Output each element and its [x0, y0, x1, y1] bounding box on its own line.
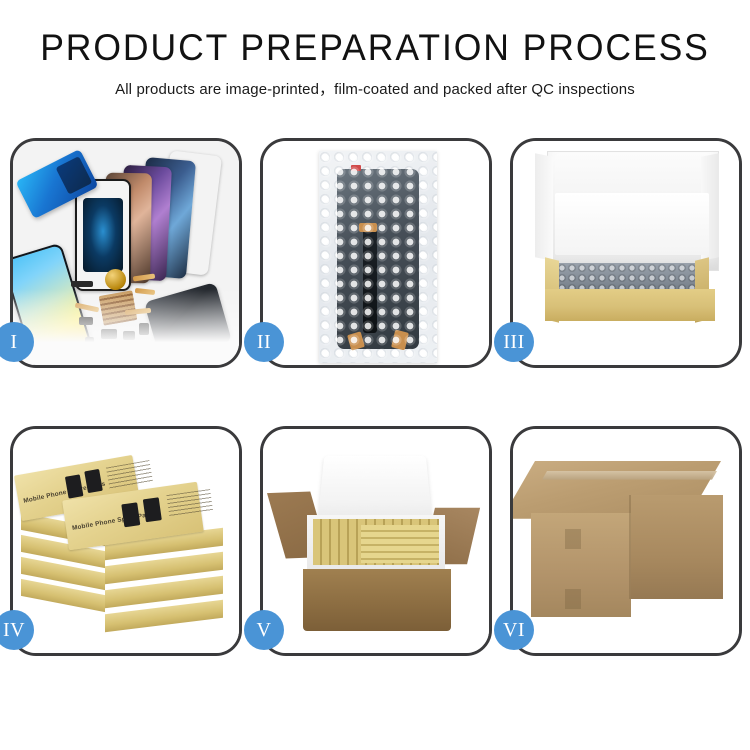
box-spec-lines-1: [106, 460, 153, 489]
step-badge-5: V: [244, 610, 284, 650]
panel-image-frame-2: [263, 141, 489, 365]
connector-chip-3: [101, 329, 117, 339]
carton-right-face: [631, 495, 723, 599]
carton-corner-edge: [629, 495, 631, 599]
foam-box-photo: [513, 141, 739, 365]
connector-chip-2: [79, 317, 93, 325]
process-step-panel-1[interactable]: I: [10, 138, 242, 368]
flex-cable-2: [135, 288, 155, 295]
spare-parts-photo: [13, 141, 239, 365]
connector-chip-5: [139, 323, 149, 335]
panel-image-frame-6: [513, 429, 739, 653]
connector-chip-1: [71, 281, 93, 287]
screen-flex-cable: [363, 229, 377, 333]
bubble-wrap-bag: [319, 151, 437, 363]
phone-back-housing: [144, 282, 232, 362]
sealed-carton-photo: [513, 429, 739, 653]
process-step-panel-5[interactable]: V: [260, 426, 492, 656]
box-spec-lines-2: [166, 489, 213, 517]
wireless-charging-coil: [105, 269, 126, 290]
ic-chip-grid: [99, 290, 138, 325]
box-screen-thumbnail-2: [84, 469, 103, 493]
connector-chip-4: [123, 331, 135, 340]
process-step-panel-4[interactable]: Mobile Phone Spare Parts Mobile Phone Sp…: [10, 426, 242, 656]
lcd-screen-assembly: [337, 169, 419, 349]
stacked-boxes-photo: Mobile Phone Spare Parts Mobile Phone Sp…: [13, 429, 239, 653]
page-title: PRODUCT PREPARATION PROCESS: [15, 28, 735, 68]
packing-tape-strip: [542, 471, 717, 480]
page-subtitle: All products are image-printed，film-coat…: [6, 77, 745, 99]
step-badge-3: III: [494, 322, 534, 362]
red-qc-sticker: [351, 165, 361, 171]
box-lid-flap-left: [535, 153, 553, 260]
flex-cable-3: [75, 303, 100, 313]
step-badge-6: VI: [494, 610, 534, 650]
step-badge-2: II: [244, 322, 284, 362]
connector-chip-6: [85, 337, 94, 349]
panel-image-frame-3: [513, 141, 739, 365]
box-label-text-2: Mobile Phone Spare Parts: [72, 511, 156, 532]
carton-seam-upper: [565, 529, 581, 549]
bubble-wrap-photo: [263, 141, 489, 365]
process-step-panel-6[interactable]: VI: [510, 426, 742, 656]
panel-image-frame-1: [13, 141, 239, 365]
boxed-units-row-2: [361, 525, 439, 563]
box-screen-thumbnail-4: [143, 497, 162, 522]
foam-sheet: [555, 193, 709, 255]
carton-seam-lower: [565, 589, 581, 609]
process-step-panel-2[interactable]: II: [260, 138, 492, 368]
box-screen-thumbnail-3: [121, 502, 140, 527]
box-stack: Mobile Phone Spare Parts Mobile Phone Sp…: [13, 429, 239, 653]
panel-image-frame-5: [263, 429, 489, 653]
box-screen-thumbnail-1: [65, 474, 84, 498]
flex-connector-top: [359, 223, 377, 232]
process-step-grid: I II: [10, 138, 742, 656]
panel-image-frame-4: Mobile Phone Spare Parts Mobile Phone Sp…: [13, 429, 239, 653]
page-header: PRODUCT PREPARATION PROCESS All products…: [0, 0, 750, 99]
carton-filling-photo: [263, 429, 489, 653]
carton-front-wall: [303, 569, 451, 631]
flex-cable-4: [125, 308, 151, 315]
process-step-panel-3[interactable]: III: [510, 138, 742, 368]
kraft-tray-front: [545, 289, 715, 321]
carton-left-face: [531, 513, 631, 617]
